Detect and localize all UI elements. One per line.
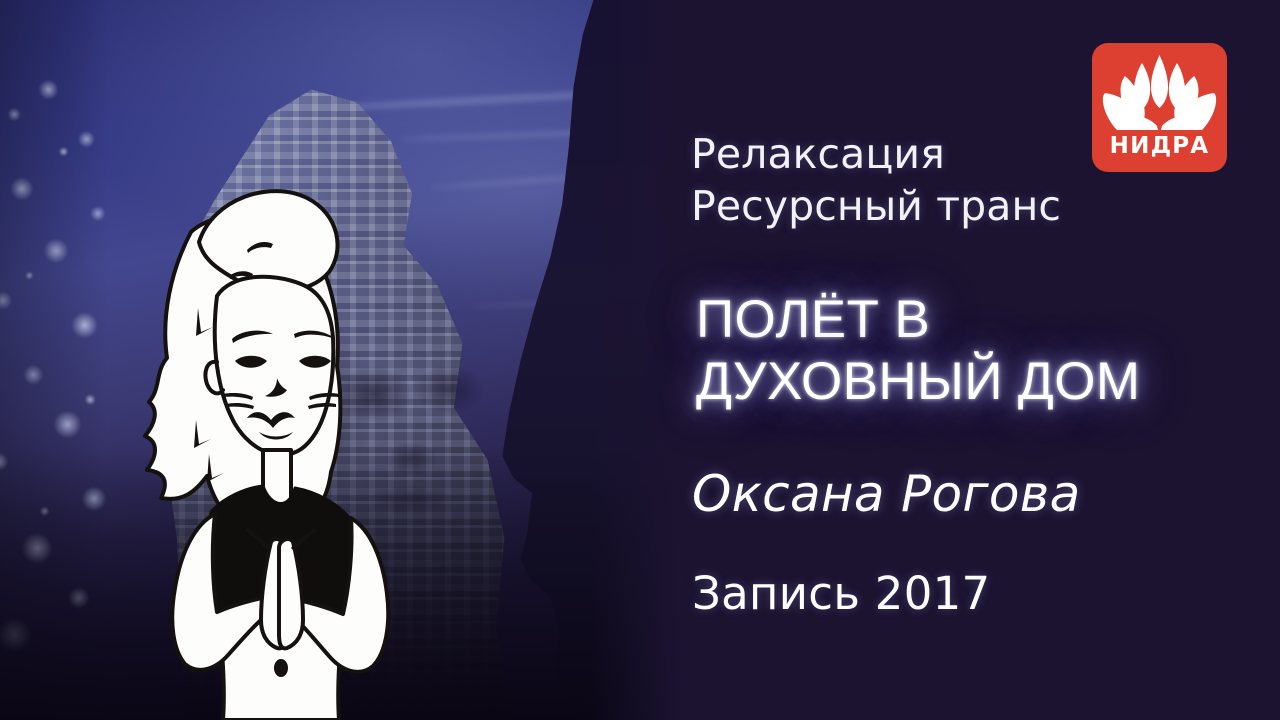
meditating-woman-illustration — [95, 120, 415, 660]
nidra-logo: НИДРА — [1092, 43, 1227, 172]
lotus-icon — [1100, 51, 1219, 131]
author-name: Оксана Рогова — [692, 465, 1081, 523]
background-photo — [0, 0, 680, 720]
record-year: Запись 2017 — [692, 567, 990, 620]
title-card: Релаксация Ресурсный транс ПОЛЁТ В ДУХОВ… — [0, 0, 1280, 720]
page-title: ПОЛЁТ В ДУХОВНЫЙ ДОМ — [696, 289, 1236, 413]
logo-brand-text: НИДРА — [1092, 133, 1227, 159]
